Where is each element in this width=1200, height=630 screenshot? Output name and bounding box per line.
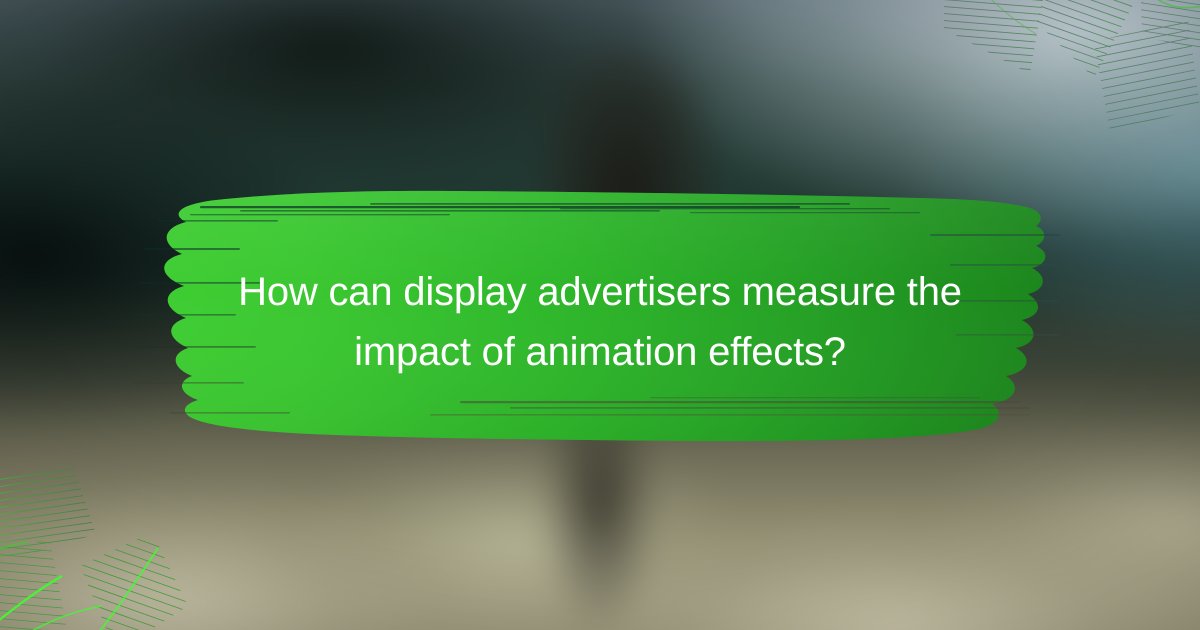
headline-line-2: impact of animation effects? (180, 322, 1020, 382)
social-card: How can display advertisers measure the … (0, 0, 1200, 630)
headline-line-1: How can display advertisers measure the (180, 262, 1020, 322)
page-title: How can display advertisers measure the … (180, 262, 1020, 382)
